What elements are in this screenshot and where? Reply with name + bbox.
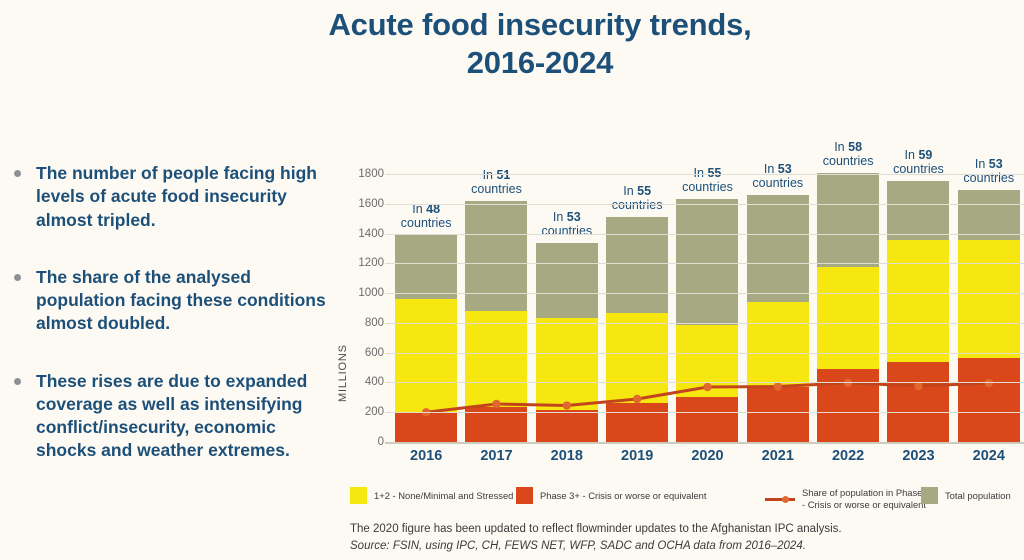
stacked-bar[interactable] [958,190,1020,442]
footnotes: The 2020 figure has been updated to refl… [350,521,1000,556]
bar-column[interactable]: In 48countries11.4%105.2M2016 [391,174,461,442]
legend-label: Phase 3+ - Crisis or worse or equivalent [540,490,706,502]
bar-segment-phase3 [958,358,1020,442]
bar-column[interactable]: In 51countries14.6%123.5M2017 [461,174,531,442]
country-count-label: In 55countries [612,184,663,212]
x-axis-tick: 2022 [832,448,864,464]
y-axis-tick: 200 [365,406,384,418]
x-axis-line [385,442,1024,444]
slide-canvas: Acute food insecurity trends,2016-2024 T… [0,0,1024,560]
x-axis-tick: 2020 [691,448,723,464]
y-axis-tick: 1400 [358,228,384,240]
x-axis-tick: 2018 [551,448,583,464]
bar-column[interactable]: In 53countries21.3%192.8M2021 [743,174,813,442]
y-axis-title: MILLIONS [337,344,349,402]
bar-column[interactable]: In 59countries21.5%281.6M2023 [883,174,953,442]
key-message-item: The number of people facing high levels … [6,162,336,232]
legend-label: Share of population in Phase 3+- Crisis … [802,487,936,511]
bar-segment-phase3 [606,403,668,442]
y-axis-tick: 1800 [358,168,384,180]
country-count-label: In 53countries [963,157,1014,185]
bar-segment-phase3 [887,362,949,442]
gridline [385,412,1024,413]
legend-label: 1+2 - None/Minimal and Stressed [374,490,513,502]
bar-column[interactable]: In 53countries14.0%112.7M2018 [532,174,602,442]
page-title-line: 2016-2024 [160,44,920,82]
bar-segment-phase3 [536,410,598,442]
bar-column[interactable]: In 58countries22.7%257.8M2022 [813,174,883,442]
bar-column[interactable]: In 55countries16.5%137.4M2019 [602,174,672,442]
legend-swatch-icon [350,487,367,504]
y-axis-tick: 400 [365,376,384,388]
gridline [385,293,1024,294]
x-axis-tick: 2016 [410,448,442,464]
stacked-bar[interactable] [465,201,527,442]
y-axis-tick: 1000 [358,287,384,299]
country-count-label: In 58countries [823,140,874,168]
key-message-item: The share of the analysed population fac… [6,266,336,336]
legend-label: Total population [945,490,1011,502]
y-axis-tick: 1200 [358,257,384,269]
page-title-line: Acute food insecurity trends, [160,6,920,44]
bar-column[interactable]: In 55countries21.1%159.1M2020 [672,174,742,442]
x-axis-tick: 2019 [621,448,653,464]
legend-line-icon [765,490,795,507]
footnote-source: Source: FSIN, using IPC, CH, FEWS NET, W… [350,538,1000,555]
y-axis-tick: 1600 [358,198,384,210]
legend-item[interactable]: Phase 3+ - Crisis or worse or equivalent [516,487,706,504]
gridline [385,353,1024,354]
page-title: Acute food insecurity trends,2016-2024 [160,6,920,82]
stacked-bar[interactable] [887,181,949,442]
country-count-label: In 59countries [893,148,944,176]
key-message-text: These rises are due to expanded coverage… [36,370,336,463]
chart-area: MILLIONS In 48countries11.4%105.2M2016In… [345,150,1024,480]
gridline [385,323,1024,324]
bullet-dot-icon [14,378,21,385]
key-message-text: The share of the analysed population fac… [36,266,336,336]
gridline [385,263,1024,264]
gridline [385,174,1024,175]
bar-column[interactable]: In 53countries22.6%295.3M2024 [954,174,1024,442]
stacked-bar[interactable] [747,195,809,442]
gridline [385,234,1024,235]
x-axis-tick: 2021 [762,448,794,464]
key-messages-list: The number of people facing high levels … [6,162,336,497]
country-count-label: In 55countries [682,166,733,194]
country-count-label: In 53countries [752,162,803,190]
stacked-bar[interactable] [395,235,457,442]
key-message-item: These rises are due to expanded coverage… [6,370,336,463]
gridline [385,382,1024,383]
country-count-label: In 48countries [401,202,452,230]
y-axis-tick: 0 [378,436,384,448]
legend-item[interactable]: 1+2 - None/Minimal and Stressed [350,487,513,504]
chart-legend: 1+2 - None/Minimal and StressedPhase 3+ … [350,487,1024,517]
plot-area: In 48countries11.4%105.2M2016In 51countr… [391,174,1024,442]
bar-group: In 48countries11.4%105.2M2016In 51countr… [391,174,1024,442]
bar-segment-phase3 [676,397,738,442]
key-message-text: The number of people facing high levels … [36,162,336,232]
legend-swatch-icon [516,487,533,504]
bullet-dot-icon [14,274,21,281]
country-count-label: In 51countries [471,168,522,196]
bar-segment-phase3 [747,387,809,442]
stacked-bar[interactable] [606,217,668,442]
gridline [385,204,1024,205]
x-axis-tick: 2017 [480,448,512,464]
footnote-note: The 2020 figure has been updated to refl… [350,521,1000,538]
bar-segment-phase3 [817,369,879,442]
bar-segment-phase3 [395,412,457,442]
legend-item[interactable]: Total population [921,487,1011,504]
stacked-bar[interactable] [676,199,738,442]
y-axis-tick: 800 [365,317,384,329]
y-axis-tick: 600 [365,347,384,359]
x-axis-tick: 2024 [973,448,1005,464]
legend-swatch-icon [921,487,938,504]
bullet-dot-icon [14,170,21,177]
stacked-bar[interactable] [817,173,879,442]
x-axis-tick: 2023 [902,448,934,464]
legend-item[interactable]: Share of population in Phase 3+- Crisis … [765,487,936,511]
